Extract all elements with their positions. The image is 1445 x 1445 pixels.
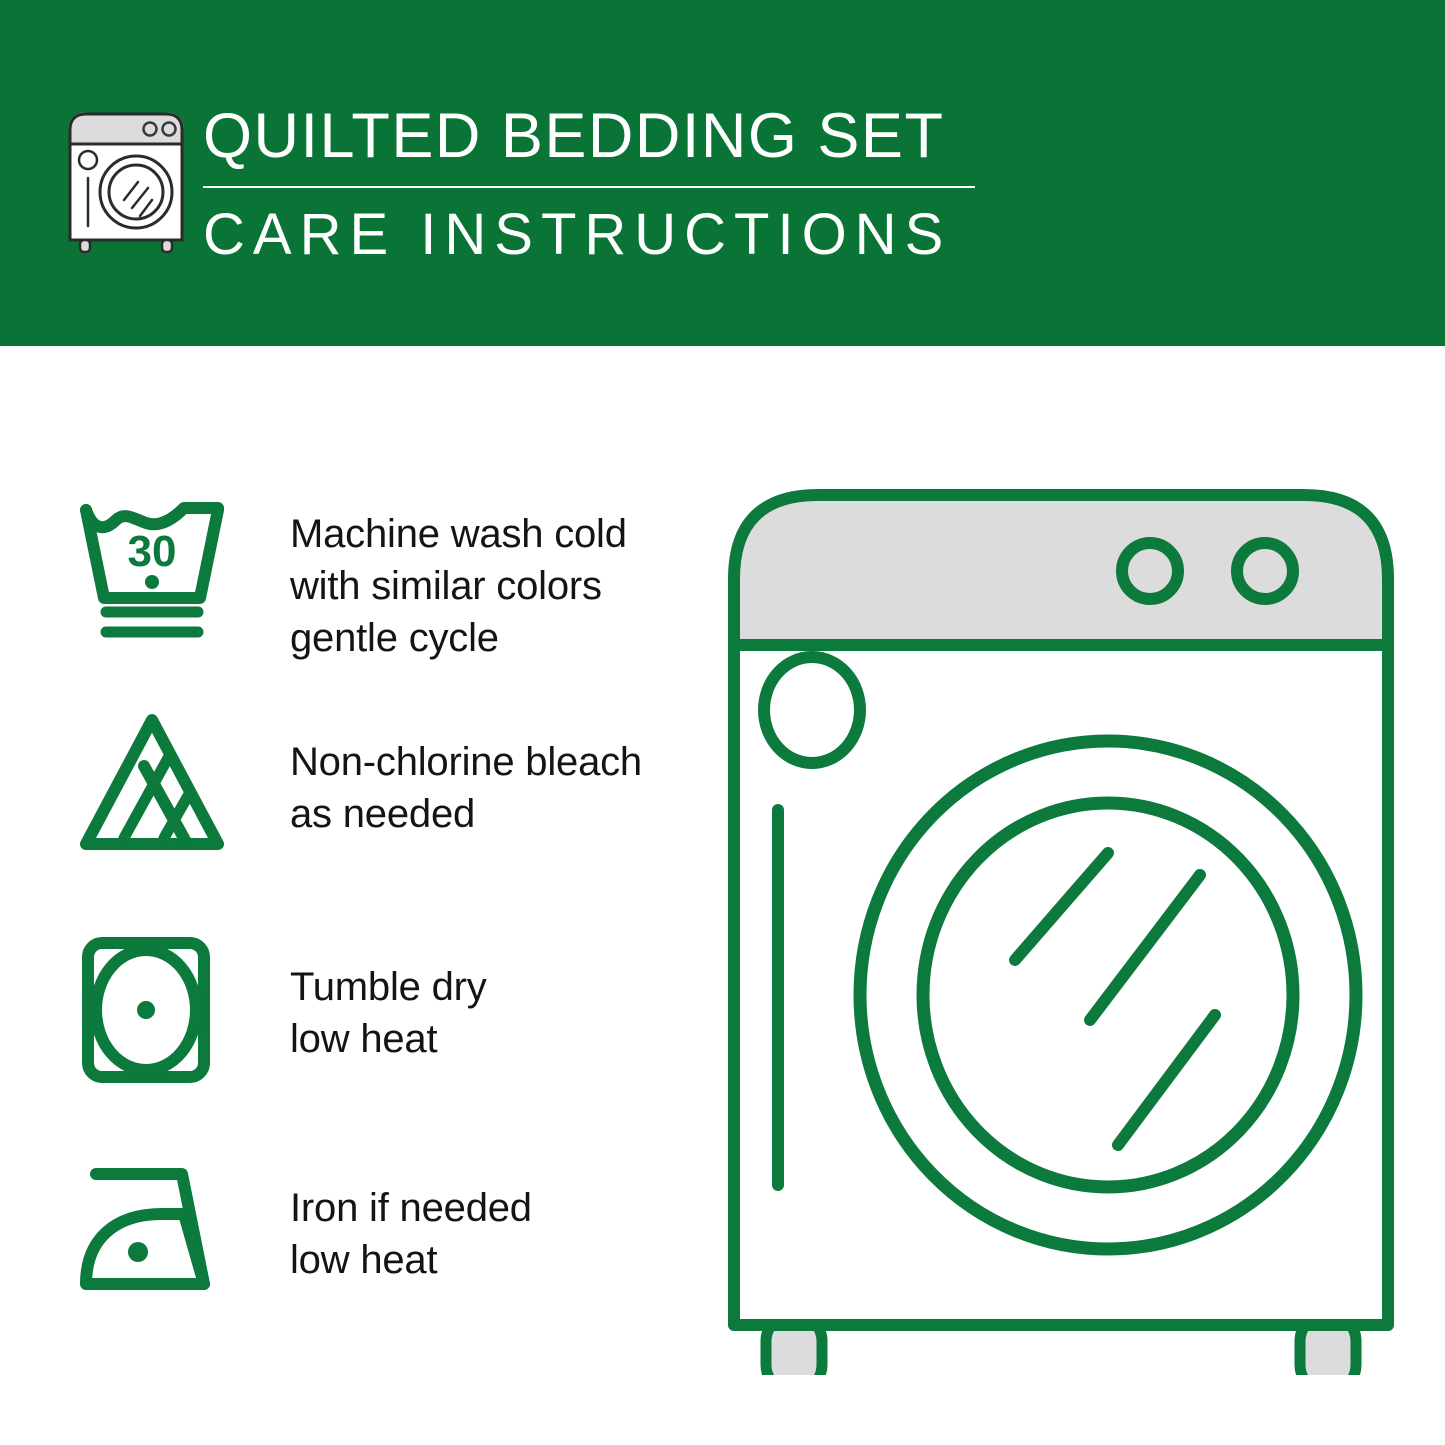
non-chlorine-bleach-triangle-icon	[72, 706, 232, 866]
instruction-line: gentle cycle	[290, 612, 627, 664]
instruction-row-tumble-dry: Tumble dry low heat	[0, 931, 700, 1101]
tumble-dry-low-icon	[72, 931, 232, 1091]
instruction-row-iron: Iron if needed low heat	[0, 1146, 700, 1316]
care-instructions-page: QUILTED BEDDING SET CARE INSTRUCTIONS 30	[0, 0, 1445, 1445]
page-title: QUILTED BEDDING SET	[203, 100, 993, 172]
instruction-line: as needed	[290, 788, 642, 840]
instruction-row-bleach: Non-chlorine bleach as needed	[0, 706, 700, 876]
iron-low-heat-icon	[72, 1156, 232, 1316]
wash-temp-value: 30	[128, 527, 177, 576]
instruction-line: Iron if needed	[290, 1182, 532, 1234]
page-subtitle: CARE INSTRUCTIONS	[203, 202, 993, 268]
wash-tub-30-gentle-icon: 30	[72, 486, 232, 646]
header-banner: QUILTED BEDDING SET CARE INSTRUCTIONS	[0, 0, 1445, 346]
instruction-line: low heat	[290, 1013, 487, 1065]
title-divider	[203, 186, 975, 188]
instruction-list: 30 Machine wash cold with similar colors…	[0, 346, 700, 1445]
instruction-row-machine-wash: 30 Machine wash cold with similar colors…	[0, 486, 700, 676]
washing-machine-icon	[62, 104, 190, 254]
header-text-block: QUILTED BEDDING SET CARE INSTRUCTIONS	[203, 100, 993, 268]
instruction-line: with similar colors	[290, 560, 627, 612]
instruction-line: Non-chlorine bleach	[290, 736, 642, 788]
instruction-text-machine-wash: Machine wash cold with similar colors ge…	[290, 508, 627, 664]
instruction-line: Tumble dry	[290, 961, 487, 1013]
instruction-text-bleach: Non-chlorine bleach as needed	[290, 736, 642, 840]
instruction-line: Machine wash cold	[290, 508, 627, 560]
instruction-text-tumble-dry: Tumble dry low heat	[290, 961, 487, 1065]
instruction-line: low heat	[290, 1234, 532, 1286]
washing-machine-illustration	[700, 455, 1420, 1375]
instruction-text-iron: Iron if needed low heat	[290, 1182, 532, 1286]
